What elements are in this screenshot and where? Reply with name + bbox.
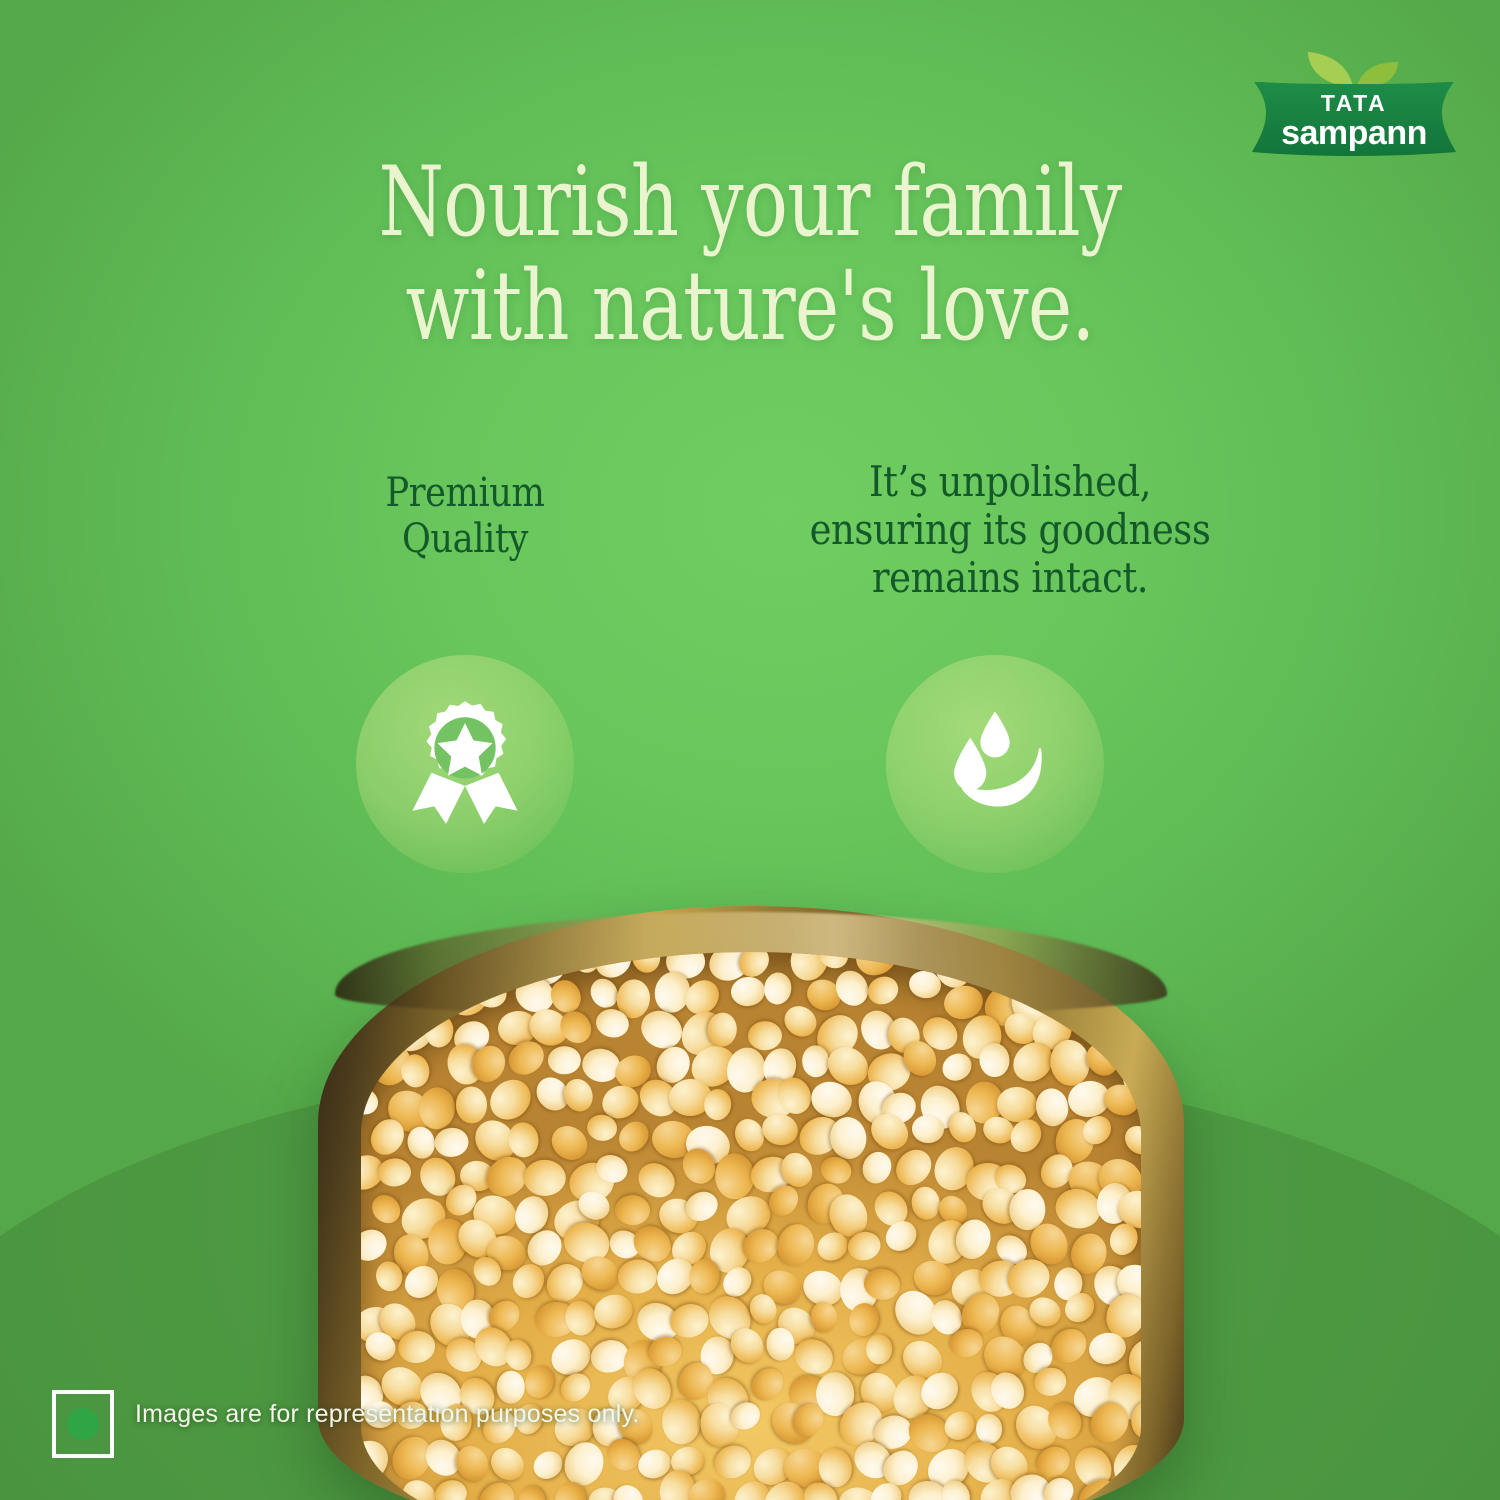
feature-premium-quality: Premium Quality — [270, 470, 660, 562]
feature-premium-quality-badge — [356, 655, 574, 873]
headline-line-1: Nourish your family — [165, 150, 1335, 254]
sprout-leaf-icon — [1306, 44, 1406, 90]
award-ribbon-icon — [392, 691, 538, 837]
feature-unpolished-text: It’s unpolished, ensuring its goodness r… — [772, 458, 1247, 602]
feature-0-line-2: Quality — [293, 516, 636, 562]
feature-1-line-2: ensuring its goodness — [772, 506, 1247, 554]
feature-1-line-3: remains intact. — [772, 554, 1247, 602]
feature-row: Premium Quality It’s unpolished, ensurin… — [0, 470, 1500, 890]
headline-line-2: with nature's love. — [165, 254, 1335, 358]
disclaimer-text: Images are for representation purposes o… — [135, 1400, 639, 1429]
vegetarian-mark — [52, 1390, 114, 1458]
logo-tata-text: TATA — [1248, 90, 1460, 117]
feature-0-line-1: Premium — [293, 470, 636, 516]
vegetarian-dot-icon — [67, 1408, 99, 1440]
leaf-water-drop-icon — [922, 691, 1068, 837]
feature-unpolished: It’s unpolished, ensuring its goodness r… — [740, 458, 1280, 602]
feature-1-line-1: It’s unpolished, — [772, 458, 1247, 506]
brand-logo[interactable]: TATA sampann — [1248, 44, 1460, 160]
headline: Nourish your family with nature's love. — [165, 150, 1335, 358]
logo-sampann-text: sampann — [1248, 114, 1460, 153]
feature-premium-quality-text: Premium Quality — [293, 470, 636, 562]
feature-unpolished-badge — [886, 655, 1104, 873]
promo-banner: TATA sampann Nourish your family with na… — [0, 0, 1500, 1500]
